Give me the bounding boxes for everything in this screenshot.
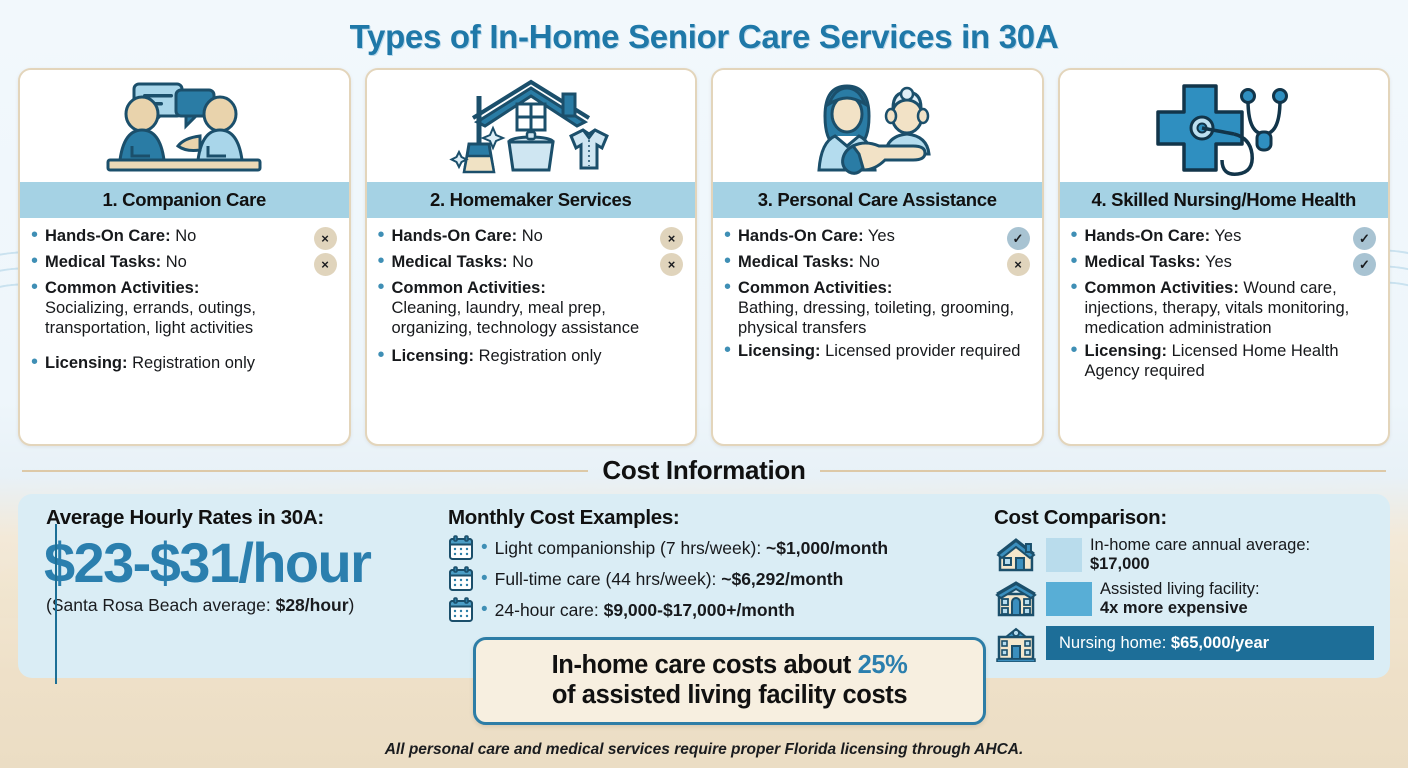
medical-tasks-row: • Medical Tasks: No × [724, 253, 1030, 276]
medical-tasks-row: • Medical Tasks: No × [31, 253, 337, 276]
bullet-icon: • [724, 342, 738, 359]
bullet-icon: • [31, 354, 45, 371]
calendar-icon [448, 535, 474, 561]
cost-comparison-heading: Cost Comparison: [994, 506, 1374, 530]
infographic-page: Types of In-Home Senior Care Services in… [0, 0, 1408, 768]
card-heading: 3. Personal Care Assistance [713, 182, 1042, 218]
comparison-value: $65,000/year [1171, 634, 1269, 652]
medical-tasks-row: • Medical Tasks: Yes ✓ [1071, 253, 1377, 276]
licensing-label: Licensing: [738, 342, 821, 360]
cost-information-heading: Cost Information [602, 455, 805, 486]
monthly-item-value: ~$1,000/month [766, 538, 888, 558]
bullet-icon: • [378, 227, 392, 244]
hands-on-care-row: • Hands-On Care: Yes ✓ [1071, 227, 1377, 250]
service-card-homemaker-services: 2. Homemaker Services • Hands-On Care: N… [365, 68, 698, 446]
comparison-label: In-home care annual average: [1090, 536, 1310, 554]
comparison-label: Nursing home: [1059, 634, 1171, 652]
licensing-value: Registration only [132, 354, 255, 372]
divider-line-right [820, 470, 1386, 472]
bullet-icon: • [31, 227, 45, 244]
hands-on-care-value: Yes [1214, 227, 1241, 245]
medical-tasks-value: Yes [1205, 253, 1232, 271]
monthly-cost-item: • 24-hour care: $9,000-$17,000+/month [448, 597, 984, 623]
comparison-bar-row: Assisted living facility: 4x more expens… [994, 580, 1374, 618]
status-badge-medical: × [1007, 253, 1030, 276]
medical-tasks-label: Medical Tasks: [392, 253, 508, 271]
common-activities-row: • Common Activities:Cleaning, laundry, m… [378, 279, 684, 339]
licensing-row: • Licensing: Licensed Home Health Agency… [1071, 342, 1377, 382]
hands-on-care-value: No [522, 227, 543, 245]
medical-tasks-value: No [166, 253, 187, 271]
two-people-talking-icon [20, 70, 349, 182]
hands-on-care-label: Hands-On Care: [738, 227, 864, 245]
status-badge-hands-on: ✓ [1353, 227, 1376, 250]
hands-on-care-row: • Hands-On Care: No × [31, 227, 337, 250]
bullet-icon: • [481, 568, 488, 590]
cost-comparison-column: Cost Comparison: In-home care annual ave… [984, 506, 1374, 662]
licensing-row: • Licensing: Registration only [378, 347, 684, 367]
licensing-value: Registration only [479, 347, 602, 365]
monthly-cost-item: • Full-time care (44 hrs/week): ~$6,292/… [448, 566, 984, 592]
card-heading: 4. Skilled Nursing/Home Health [1060, 182, 1389, 218]
house-icon [994, 536, 1038, 574]
licensing-value: Licensed provider required [825, 342, 1020, 360]
service-card-personal-care-assistance: 3. Personal Care Assistance • Hands-On C… [711, 68, 1044, 446]
monthly-item-label: Light companionship (7 hrs/week): [495, 538, 766, 558]
medical-tasks-row: • Medical Tasks: No × [378, 253, 684, 276]
house-chores-icon [367, 70, 696, 182]
common-activities-label: Common Activities: [392, 279, 546, 297]
comparison-label: Assisted living facility: [1100, 580, 1260, 598]
caregiver-senior-hand-icon [713, 70, 1042, 182]
footer-disclaimer: All personal care and medical services r… [0, 741, 1408, 759]
monthly-item-label: 24-hour care: [495, 600, 604, 620]
divider-line-left [22, 470, 588, 472]
service-card-skilled-nursing: 4. Skilled Nursing/Home Health • Hands-O… [1058, 68, 1391, 446]
hands-on-care-row: • Hands-On Care: No × [378, 227, 684, 250]
bullet-icon: • [1071, 227, 1085, 244]
hourly-rates-column: Average Hourly Rates in 30A: $23-$31/hou… [34, 506, 444, 662]
hands-on-care-row: • Hands-On Care: Yes ✓ [724, 227, 1030, 250]
common-activities-row: • Common Activities:Bathing, dressing, t… [724, 279, 1030, 339]
bullet-icon: • [724, 279, 738, 296]
status-badge-hands-on: × [660, 227, 683, 250]
bullet-icon: • [31, 253, 45, 270]
callout-line2: of assisted living facility costs [552, 681, 907, 709]
licensing-label: Licensing: [392, 347, 475, 365]
bullet-icon: • [724, 227, 738, 244]
hourly-rate-note: (Santa Rosa Beach average: $28/hour) [46, 595, 444, 616]
licensing-label: Licensing: [45, 354, 128, 372]
callout-highlight: 25% [858, 651, 908, 679]
bullet-icon: • [1071, 253, 1085, 270]
common-activities-value: Socializing, errands, outings, transport… [45, 299, 256, 337]
bullet-icon: • [1071, 279, 1085, 296]
common-activities-row: • Common Activities: Wound care, injecti… [1071, 279, 1377, 339]
hourly-rate-value: $23-$31/hour [44, 533, 444, 593]
status-badge-medical: × [314, 253, 337, 276]
bullet-icon: • [378, 279, 392, 296]
callout-line1-prefix: In-home care costs about [552, 651, 858, 679]
assisted-living-building-icon [994, 580, 1038, 618]
comparison-bar-row: Nursing home: $65,000/year [994, 624, 1374, 662]
service-card-companion-care: 1. Companion Care • Hands-On Care: No × … [18, 68, 351, 446]
hands-on-care-label: Hands-On Care: [45, 227, 171, 245]
chart-axis-line [55, 524, 57, 684]
comparison-bar-row: In-home care annual average: $17,000 [994, 536, 1374, 574]
status-badge-hands-on: × [314, 227, 337, 250]
common-activities-value: Bathing, dressing, toileting, grooming, … [738, 299, 1014, 337]
status-badge-hands-on: ✓ [1007, 227, 1030, 250]
page-title: Types of In-Home Senior Care Services in… [0, 0, 1408, 56]
hands-on-care-value: No [175, 227, 196, 245]
card-heading: 2. Homemaker Services [367, 182, 696, 218]
medical-tasks-value: No [512, 253, 533, 271]
card-body: • Hands-On Care: Yes ✓ • Medical Tasks: … [713, 218, 1042, 444]
cost-information-panel: Average Hourly Rates in 30A: $23-$31/hou… [18, 494, 1390, 678]
calendar-icon [448, 566, 474, 592]
bullet-icon: • [1071, 342, 1085, 359]
hourly-note-suffix: ) [349, 595, 355, 615]
comparison-value: $17,000 [1090, 555, 1150, 573]
hourly-rates-heading: Average Hourly Rates in 30A: [46, 506, 444, 530]
medical-tasks-label: Medical Tasks: [1085, 253, 1201, 271]
nursing-home-building-icon [994, 624, 1038, 662]
spacer [31, 342, 337, 354]
key-insight-callout: In-home care costs about 25% of assisted… [473, 637, 986, 725]
status-badge-medical: ✓ [1353, 253, 1376, 276]
hands-on-care-label: Hands-On Care: [1085, 227, 1211, 245]
card-body: • Hands-On Care: No × • Medical Tasks: N… [20, 218, 349, 444]
bullet-icon: • [378, 253, 392, 270]
licensing-label: Licensing: [1085, 342, 1168, 360]
medical-cross-stethoscope-icon [1060, 70, 1389, 182]
common-activities-label: Common Activities: [738, 279, 892, 297]
bullet-icon: • [378, 347, 392, 364]
monthly-item-label: Full-time care (44 hrs/week): [495, 569, 722, 589]
status-badge-medical: × [660, 253, 683, 276]
common-activities-label: Common Activities: [1085, 279, 1239, 297]
bullet-icon: • [481, 537, 488, 559]
common-activities-value: Cleaning, laundry, meal prep, organizing… [392, 299, 640, 337]
comparison-bar-assisted-living [1046, 582, 1092, 616]
hands-on-care-label: Hands-On Care: [392, 227, 518, 245]
medical-tasks-value: No [859, 253, 880, 271]
monthly-item-value: ~$6,292/month [721, 569, 843, 589]
medical-tasks-label: Medical Tasks: [45, 253, 161, 271]
bullet-icon: • [481, 599, 488, 621]
comparison-bar-in-home [1046, 538, 1082, 572]
common-activities-row: • Common Activities:Socializing, errands… [31, 279, 337, 339]
comparison-value: 4x more expensive [1100, 599, 1248, 617]
medical-tasks-label: Medical Tasks: [738, 253, 854, 271]
licensing-row: • Licensing: Registration only [31, 354, 337, 374]
bullet-icon: • [31, 279, 45, 296]
cost-information-divider: Cost Information [0, 446, 1408, 486]
monthly-cost-heading: Monthly Cost Examples: [448, 506, 984, 530]
hourly-note-prefix: (Santa Rosa Beach average: [46, 595, 276, 615]
hands-on-care-value: Yes [868, 227, 895, 245]
comparison-bar-nursing-home: Nursing home: $65,000/year [1046, 626, 1374, 660]
card-body: • Hands-On Care: No × • Medical Tasks: N… [367, 218, 696, 444]
monthly-item-value: $9,000-$17,000+/month [604, 600, 795, 620]
hourly-note-value: $28/hour [276, 595, 349, 615]
service-cards-row: 1. Companion Care • Hands-On Care: No × … [0, 56, 1408, 446]
bullet-icon: • [724, 253, 738, 270]
monthly-cost-item: • Light companionship (7 hrs/week): ~$1,… [448, 535, 984, 561]
common-activities-label: Common Activities: [45, 279, 199, 297]
card-heading: 1. Companion Care [20, 182, 349, 218]
licensing-row: • Licensing: Licensed provider required [724, 342, 1030, 362]
calendar-icon [448, 597, 474, 623]
card-body: • Hands-On Care: Yes ✓ • Medical Tasks: … [1060, 218, 1389, 444]
